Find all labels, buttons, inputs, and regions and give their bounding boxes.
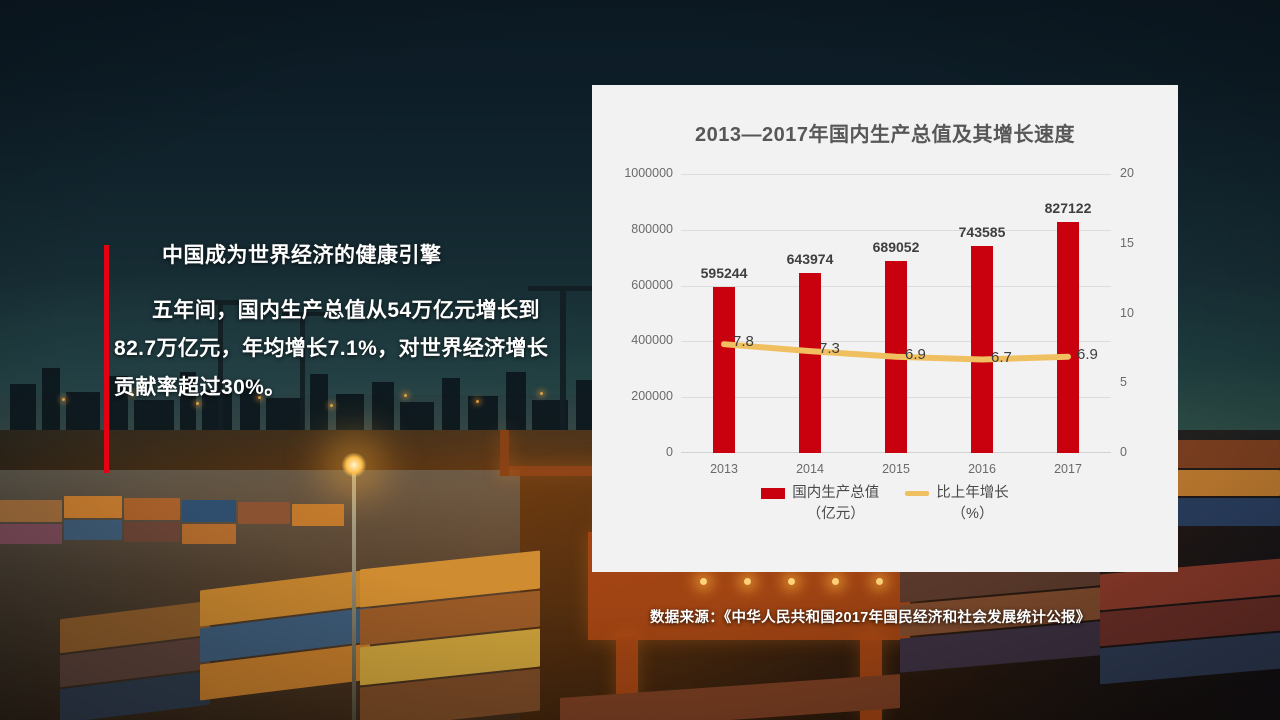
legend-label-gdp-unit: （亿元） bbox=[792, 504, 879, 525]
legend-label-growth: 比上年增长 （%） bbox=[936, 483, 1009, 525]
y-axis-tick-left: 200000 bbox=[631, 389, 673, 403]
chart-title: 2013—2017年国内生产总值及其增长速度 bbox=[592, 118, 1178, 147]
legend-item-gdp[interactable]: 国内生产总值 （亿元） bbox=[761, 483, 879, 525]
body-paragraph: 五年间，国内生产总值从54万亿元增长到82.7万亿元，年均增长7.1%，对世界经… bbox=[114, 292, 558, 407]
data-source-note: 数据来源：《中华人民共和国2017年国民经济和社会发展统计公报》 bbox=[650, 606, 1091, 627]
x-axis-label-2013: 2013 bbox=[710, 462, 738, 476]
x-axis-label-2014: 2014 bbox=[796, 462, 824, 476]
y-axis-tick-right: 0 bbox=[1120, 445, 1127, 459]
legend-label-growth-unit: （%） bbox=[936, 504, 1009, 525]
y-axis-tick-left: 1000000 bbox=[624, 166, 673, 180]
red-accent-bar bbox=[104, 245, 109, 473]
line-value-label: 7.3 bbox=[819, 340, 840, 357]
chart-legend: 国内生产总值 （亿元） 比上年增长 （%） bbox=[592, 483, 1178, 525]
y-axis-tick-left: 800000 bbox=[631, 222, 673, 236]
legend-label-growth-name: 比上年增长 bbox=[936, 485, 1009, 501]
line-value-label: 6.9 bbox=[1077, 346, 1098, 363]
line-value-label: 6.7 bbox=[991, 349, 1012, 366]
y-axis-tick-right: 5 bbox=[1120, 375, 1127, 389]
legend-line-swatch-icon bbox=[905, 491, 929, 496]
x-axis-label-2016: 2016 bbox=[968, 462, 996, 476]
legend-bar-swatch-icon bbox=[761, 488, 785, 499]
x-axis-label-2015: 2015 bbox=[882, 462, 910, 476]
y-axis-tick-right: 15 bbox=[1120, 236, 1134, 250]
left-text-block: 中国成为世界经济的健康引擎 五年间，国内生产总值从54万亿元增长到82.7万亿元… bbox=[104, 243, 564, 407]
y-axis-tick-right: 20 bbox=[1120, 166, 1134, 180]
line-value-label: 7.8 bbox=[733, 333, 754, 350]
growth-line[interactable] bbox=[681, 174, 1111, 453]
chart-plot-area: 1000000 800000 600000 400000 200000 0 20… bbox=[681, 174, 1111, 453]
y-axis-tick-left: 400000 bbox=[631, 333, 673, 347]
y-axis-tick-left: 0 bbox=[666, 445, 673, 459]
x-axis-label-2017: 2017 bbox=[1054, 462, 1082, 476]
legend-item-growth[interactable]: 比上年增长 （%） bbox=[905, 483, 1009, 525]
legend-label-gdp-name: 国内生产总值 bbox=[792, 485, 879, 501]
page-title: 中国成为世界经济的健康引擎 bbox=[162, 243, 554, 268]
chart-card: 2013—2017年国内生产总值及其增长速度 1000000 800000 60… bbox=[592, 85, 1178, 572]
line-value-label: 6.9 bbox=[905, 346, 926, 363]
y-axis-tick-right: 10 bbox=[1120, 306, 1134, 320]
legend-label-gdp: 国内生产总值 （亿元） bbox=[792, 483, 879, 525]
y-axis-tick-left: 600000 bbox=[631, 278, 673, 292]
